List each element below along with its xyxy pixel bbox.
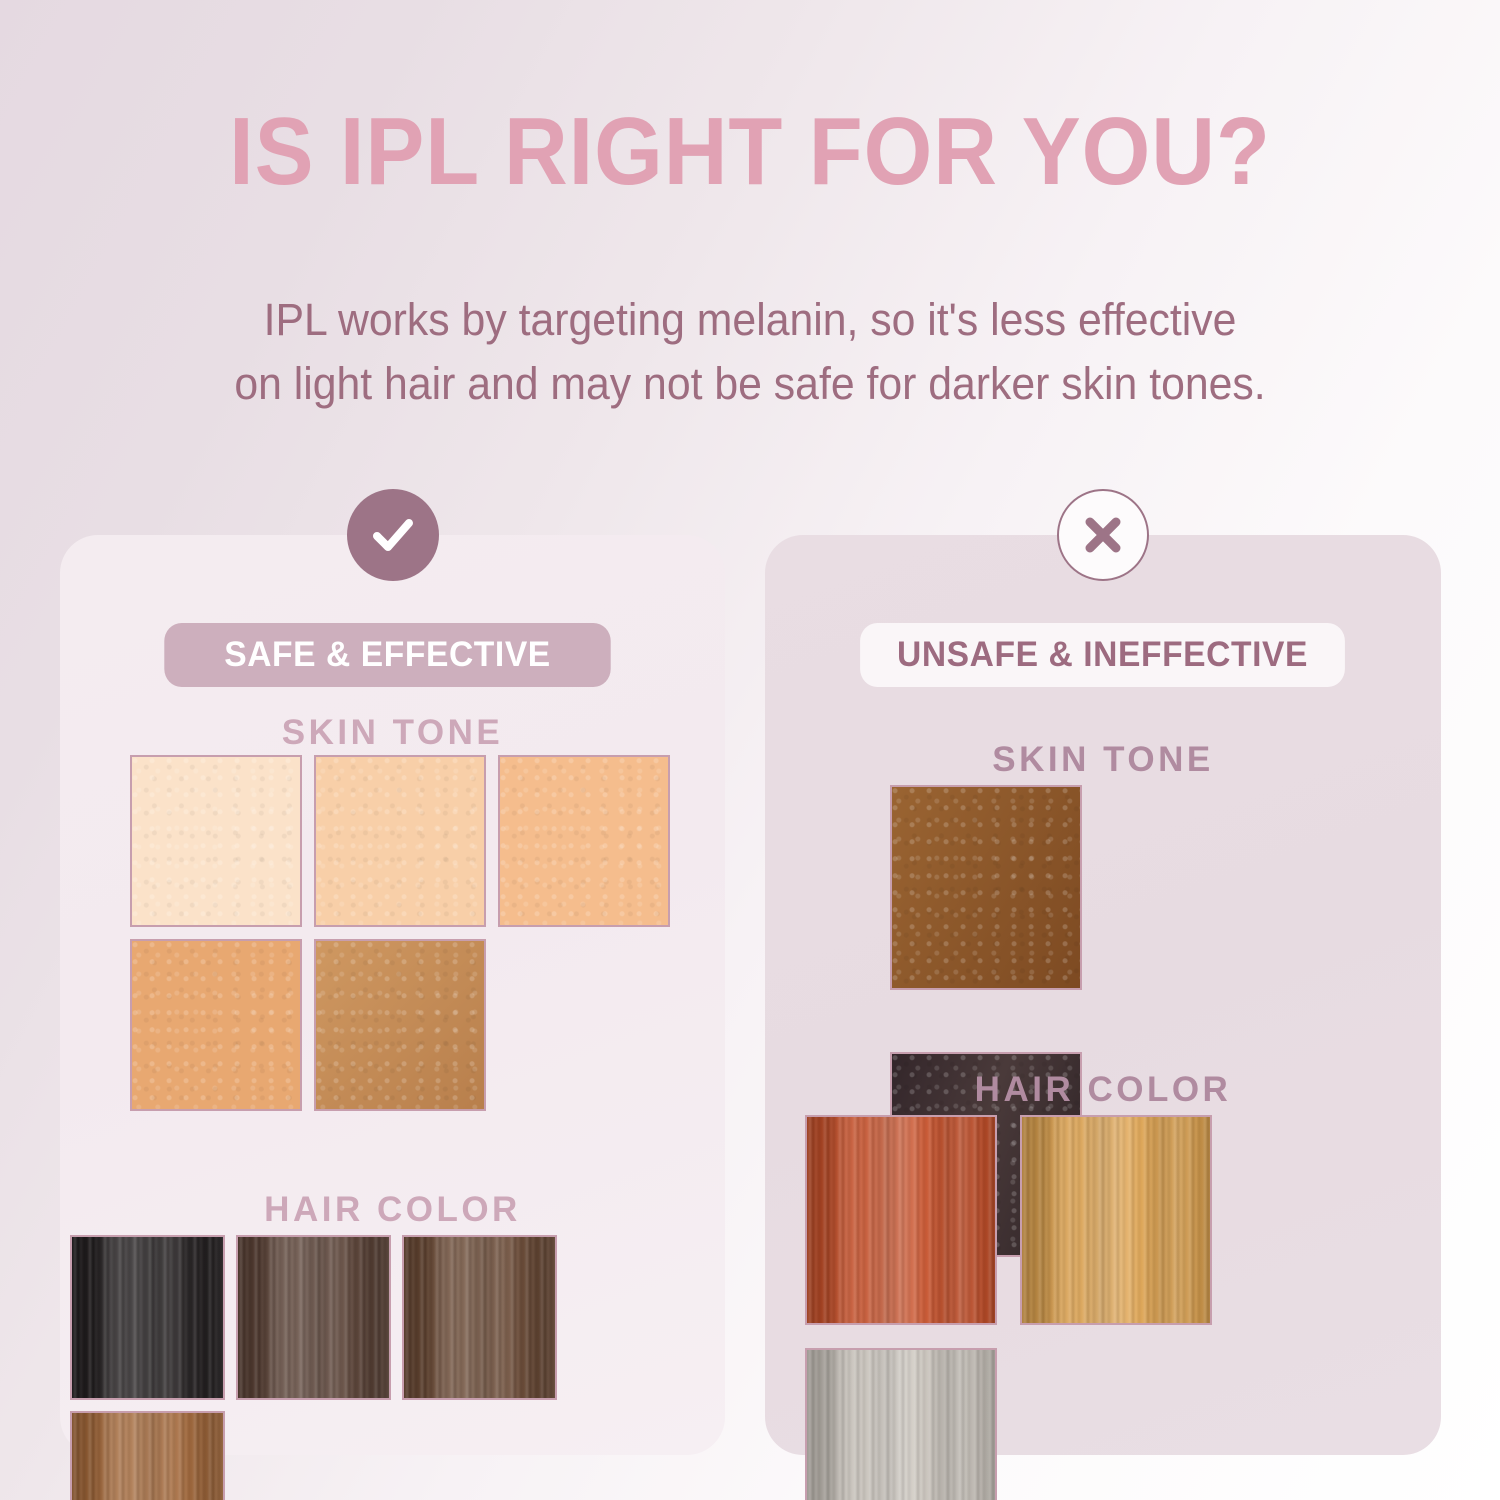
skin-swatch-deep-brown bbox=[890, 785, 1082, 990]
x-icon bbox=[1057, 489, 1149, 581]
page-title: IS IPL RIGHT FOR YOU? bbox=[60, 104, 1440, 200]
hair-swatch-dark-ash-brown bbox=[236, 1235, 391, 1400]
unsafe-ineffective-card: UNSAFE & INEFFECTIVE SKIN TONE HAIR COLO… bbox=[765, 535, 1441, 1455]
subtitle-line-2: on light hair and may not be safe for da… bbox=[38, 352, 1463, 416]
unsafe-skin-tone-heading: SKIN TONE bbox=[765, 740, 1441, 780]
skin-swatch-light-medium bbox=[498, 755, 670, 927]
unsafe-hair-color-swatches bbox=[805, 1115, 1425, 1500]
skin-swatch-very-fair bbox=[130, 755, 302, 927]
hair-swatch-light-chestnut bbox=[70, 1411, 225, 1500]
hair-swatch-medium-brown bbox=[402, 1235, 557, 1400]
check-icon bbox=[347, 489, 439, 581]
safe-hair-color-heading: HAIR COLOR bbox=[60, 1190, 725, 1230]
safe-skin-tone-heading: SKIN TONE bbox=[60, 713, 725, 753]
hair-swatch-platinum-white bbox=[805, 1348, 997, 1500]
safe-effective-pill: SAFE & EFFECTIVE bbox=[164, 623, 610, 687]
skin-swatch-fair bbox=[314, 755, 486, 927]
skin-swatch-medium-tan bbox=[314, 939, 486, 1111]
unsafe-hair-color-heading: HAIR COLOR bbox=[765, 1070, 1441, 1110]
safe-hair-color-swatches bbox=[70, 1235, 720, 1500]
ipl-suitability-infographic: IS IPL RIGHT FOR YOU? IPL works by targe… bbox=[0, 0, 1500, 1500]
page-subtitle: IPL works by targeting melanin, so it's … bbox=[38, 288, 1463, 416]
skin-swatch-medium bbox=[130, 939, 302, 1111]
hair-swatch-red-ginger bbox=[805, 1115, 997, 1325]
safe-skin-tone-swatches bbox=[130, 755, 670, 1111]
unsafe-ineffective-pill: UNSAFE & INEFFECTIVE bbox=[860, 623, 1345, 687]
subtitle-line-1: IPL works by targeting melanin, so it's … bbox=[38, 288, 1463, 352]
hair-swatch-black bbox=[70, 1235, 225, 1400]
hair-swatch-golden-blonde bbox=[1020, 1115, 1212, 1325]
safe-effective-card: SAFE & EFFECTIVE SKIN TONE HAIR COLOR bbox=[60, 535, 725, 1455]
